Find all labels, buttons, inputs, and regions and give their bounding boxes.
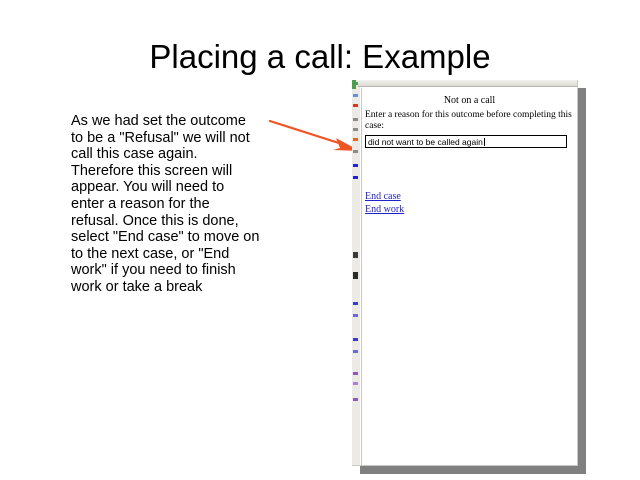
sliver-fragment — [353, 302, 358, 305]
page-title: Placing a call: Example — [0, 38, 640, 76]
sliver-fragment — [353, 350, 358, 353]
screenshot-panel: Not on a call Enter a reason for this ou… — [352, 80, 578, 466]
sliver-fragment — [353, 338, 358, 341]
sliver-fragment — [353, 138, 358, 141]
sliver-fragment — [353, 128, 358, 131]
captured-window: Not on a call Enter a reason for this ou… — [352, 80, 578, 466]
reason-input[interactable]: did not want to be called again — [365, 135, 567, 148]
captured-window-toolbar — [358, 80, 578, 87]
reason-input-value: did not want to be called again — [368, 137, 483, 147]
toolbar-marker-icon — [352, 80, 356, 89]
captured-page-heading: Not on a call — [362, 95, 577, 106]
arrow-shaft — [270, 121, 342, 144]
pointer-arrow-icon — [264, 112, 364, 160]
sliver-fragment — [353, 372, 358, 375]
sliver-fragment — [353, 272, 358, 279]
sliver-fragment — [353, 398, 358, 401]
sliver-fragment — [353, 104, 358, 107]
end-case-link[interactable]: End case — [365, 191, 401, 202]
reason-prompt-label: Enter a reason for this outcome before c… — [365, 110, 573, 132]
sliver-fragment — [353, 382, 358, 385]
background-window-sliver — [352, 80, 360, 466]
end-work-link[interactable]: End work — [365, 204, 404, 215]
sliver-fragment — [353, 314, 358, 317]
sliver-fragment — [353, 94, 358, 97]
sliver-fragment — [353, 176, 358, 179]
slide-body-text: As we had set the outcome to be a "Refus… — [71, 113, 261, 296]
sliver-fragment — [353, 118, 358, 121]
slide-canvas: Placing a call: Example As we had set th… — [0, 0, 640, 480]
sliver-fragment — [353, 150, 358, 153]
sliver-fragment — [353, 252, 358, 258]
text-caret — [484, 138, 485, 146]
captured-page-content: Not on a call Enter a reason for this ou… — [361, 88, 577, 466]
sliver-fragment — [353, 164, 358, 167]
